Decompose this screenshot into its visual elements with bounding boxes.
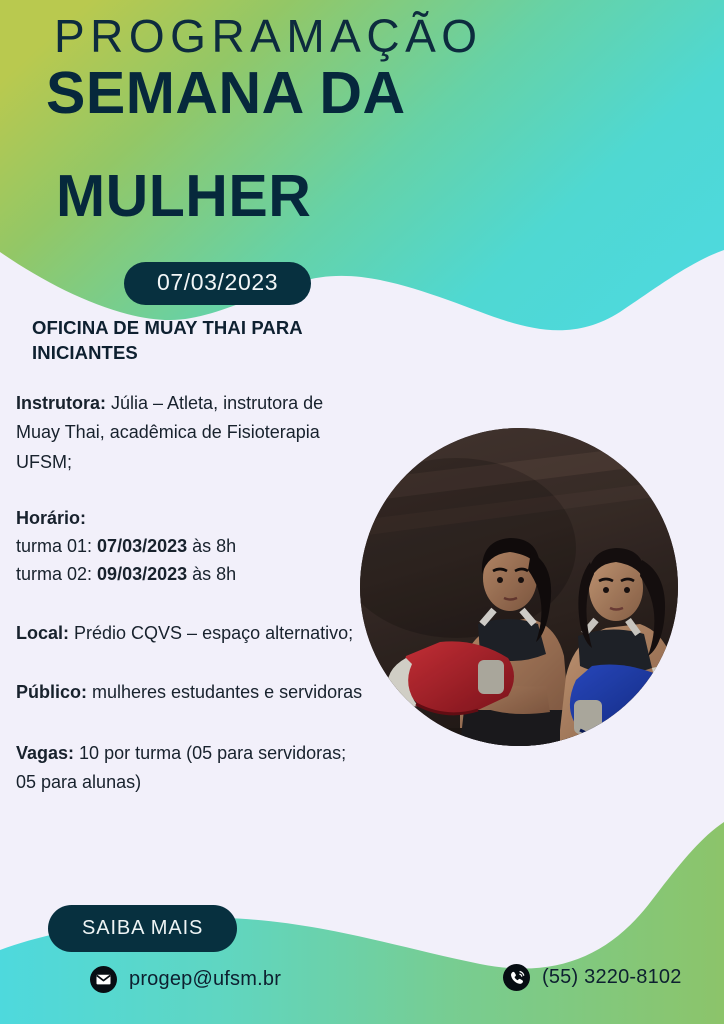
detail-horario: Horário: turma 01: 07/03/2023 às 8h turm…: [16, 504, 364, 589]
label-local: Local:: [16, 623, 69, 643]
turma-02-suffix: às 8h: [187, 564, 236, 584]
phone-icon: [503, 964, 530, 991]
saiba-mais-button[interactable]: SAIBA MAIS: [48, 905, 237, 952]
label-vagas: Vagas:: [16, 743, 74, 763]
detail-local: Local: Prédio CQVS – espaço alternativo;: [16, 619, 364, 648]
workshop-details: OFICINA DE MUAY THAI PARA INICIANTES Ins…: [16, 316, 364, 797]
envelope-icon: [90, 966, 117, 993]
detail-instrutora: Instrutora: Júlia – Atleta, instrutora d…: [16, 389, 364, 476]
horario-turma-01: turma 01: 07/03/2023 às 8h: [16, 533, 364, 561]
detail-vagas: Vagas: 10 por turma (05 para servidoras;…: [16, 739, 364, 797]
title-line-2: MULHER: [56, 167, 684, 226]
turma-01-date: 07/03/2023: [97, 536, 187, 556]
boxers-photo-illustration: [360, 428, 678, 746]
turma-02-prefix: turma 02:: [16, 564, 97, 584]
poster-heading-group: PROGRAMAÇÃO SEMANA DA MULHER: [44, 12, 684, 226]
value-publico: mulheres estudantes e servidoras: [87, 682, 362, 702]
horario-turma-02: turma 02: 09/03/2023 às 8h: [16, 561, 364, 589]
phone-text: (55) 3220-8102: [542, 966, 682, 989]
contact-email[interactable]: progep@ufsm.br: [90, 966, 281, 993]
title-line-1: SEMANA DA: [46, 64, 684, 123]
value-local: Prédio CQVS – espaço alternativo;: [69, 623, 353, 643]
poster-canvas: PROGRAMAÇÃO SEMANA DA MULHER 07/03/2023 …: [0, 0, 724, 1024]
label-publico: Público:: [16, 682, 87, 702]
detail-publico: Público: mulheres estudantes e servidora…: [16, 678, 364, 707]
turma-01-suffix: às 8h: [187, 536, 236, 556]
boxers-photo: [360, 428, 678, 746]
label-horario: Horário:: [16, 504, 364, 533]
turma-01-prefix: turma 01:: [16, 536, 97, 556]
email-text: progep@ufsm.br: [129, 968, 281, 991]
label-instrutora: Instrutora:: [16, 393, 106, 413]
workshop-title: OFICINA DE MUAY THAI PARA INICIANTES: [32, 316, 362, 365]
date-badge: 07/03/2023: [124, 262, 311, 305]
contact-phone[interactable]: (55) 3220-8102: [503, 964, 682, 991]
eyebrow-programacao: PROGRAMAÇÃO: [54, 12, 684, 62]
turma-02-date: 09/03/2023: [97, 564, 187, 584]
